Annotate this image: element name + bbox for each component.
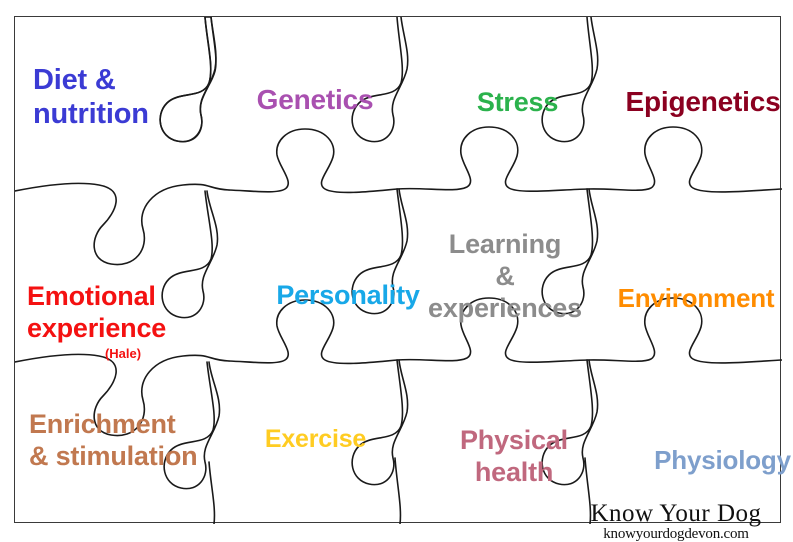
puzzle-piece-diet-nutrition[interactable]: Diet & nutrition [33,63,193,131]
watermark-url: knowyourdogdevon.com [556,527,793,542]
watermark: Know Your Dog knowyourdogdevon.com [556,501,793,542]
emotional-experience-text: Emotional experience [27,281,166,343]
puzzle-frame: Diet & nutrition Genetics Stress Epigene… [14,16,781,523]
puzzle-piece-epigenetics[interactable]: Epigenetics [608,85,793,118]
puzzle-piece-genetics[interactable]: Genetics [220,83,410,116]
puzzle-piece-physical-health[interactable]: Physical health [429,425,599,489]
puzzle-piece-exercise[interactable]: Exercise [243,425,388,455]
watermark-title: Know Your Dog [556,501,793,526]
puzzle-diagram-canvas: Diet & nutrition Genetics Stress Epigene… [0,0,793,542]
puzzle-piece-enrichment-stimulation[interactable]: Enrichment & stimulation [29,409,249,473]
puzzle-piece-stress[interactable]: Stress [445,87,590,119]
puzzle-piece-environment[interactable]: Environment [593,283,793,314]
emotional-experience-note: (Hale) [27,346,219,361]
puzzle-piece-emotional-experience[interactable]: Emotional experience (Hale) [27,249,219,393]
puzzle-piece-learning-experiences[interactable]: Learning & experiences [405,229,605,325]
puzzle-piece-physiology[interactable]: Physiology [640,445,793,476]
